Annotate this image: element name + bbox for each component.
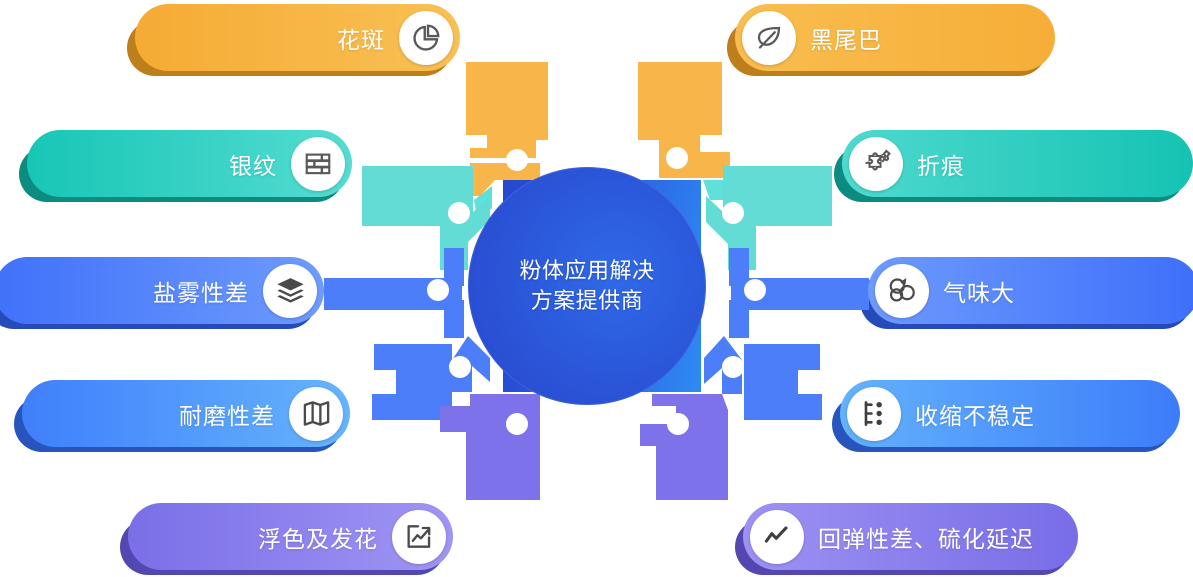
connector-zhehen [706, 166, 832, 270]
node-huitan[interactable]: 回弹性差、硫化延迟 [743, 503, 1078, 570]
layers-icon [263, 264, 317, 318]
connector-huitan [640, 394, 728, 500]
node-yinwen[interactable]: 银纹 [27, 130, 352, 197]
node-label-qiwei: 气味大 [943, 274, 1015, 308]
leaf-icon [742, 11, 796, 65]
node-label-naimo: 耐磨性差 [179, 397, 275, 431]
node-label-fuse: 浮色及发花 [258, 520, 378, 554]
line-chart-icon [750, 510, 804, 564]
center-line-1: 粉体应用解决 [519, 256, 654, 286]
node-label-shousuo: 收缩不稳定 [915, 397, 1035, 431]
puzzle-icon [849, 137, 903, 191]
node-heiweiba[interactable]: 黑尾巴 [735, 4, 1055, 71]
node-naimo[interactable]: 耐磨性差 [22, 380, 350, 447]
sitemap-icon [847, 387, 901, 441]
node-label-yinwen: 银纹 [229, 147, 277, 181]
map-book-icon [289, 387, 343, 441]
chart-arrow-up-icon [392, 510, 446, 564]
center-hub-label: 粉体应用解决 方案提供商 [468, 167, 706, 405]
node-yanwu[interactable]: 盐雾性差 [0, 257, 324, 324]
connector-fuse [440, 394, 540, 500]
node-label-huaban: 花斑 [337, 21, 385, 55]
node-huaban[interactable]: 花斑 [135, 4, 460, 71]
pie-chart-icon [399, 11, 453, 65]
center-line-2: 方案提供商 [531, 286, 644, 316]
infographic-canvas: 粉体应用解决 方案提供商 花斑 黑尾巴 [0, 0, 1193, 577]
node-label-yanwu: 盐雾性差 [153, 274, 249, 308]
node-label-heiweiba: 黑尾巴 [810, 21, 882, 55]
recycle-icon [875, 264, 929, 318]
node-fuse[interactable]: 浮色及发花 [128, 503, 453, 570]
brick-wall-icon [291, 137, 345, 191]
node-shousuo[interactable]: 收缩不稳定 [840, 380, 1180, 447]
node-label-huitan: 回弹性差、硫化延迟 [818, 520, 1034, 554]
node-zhehen[interactable]: 折痕 [842, 130, 1193, 197]
node-label-zhehen: 折痕 [917, 147, 965, 181]
node-qiwei[interactable]: 气味大 [868, 257, 1193, 324]
